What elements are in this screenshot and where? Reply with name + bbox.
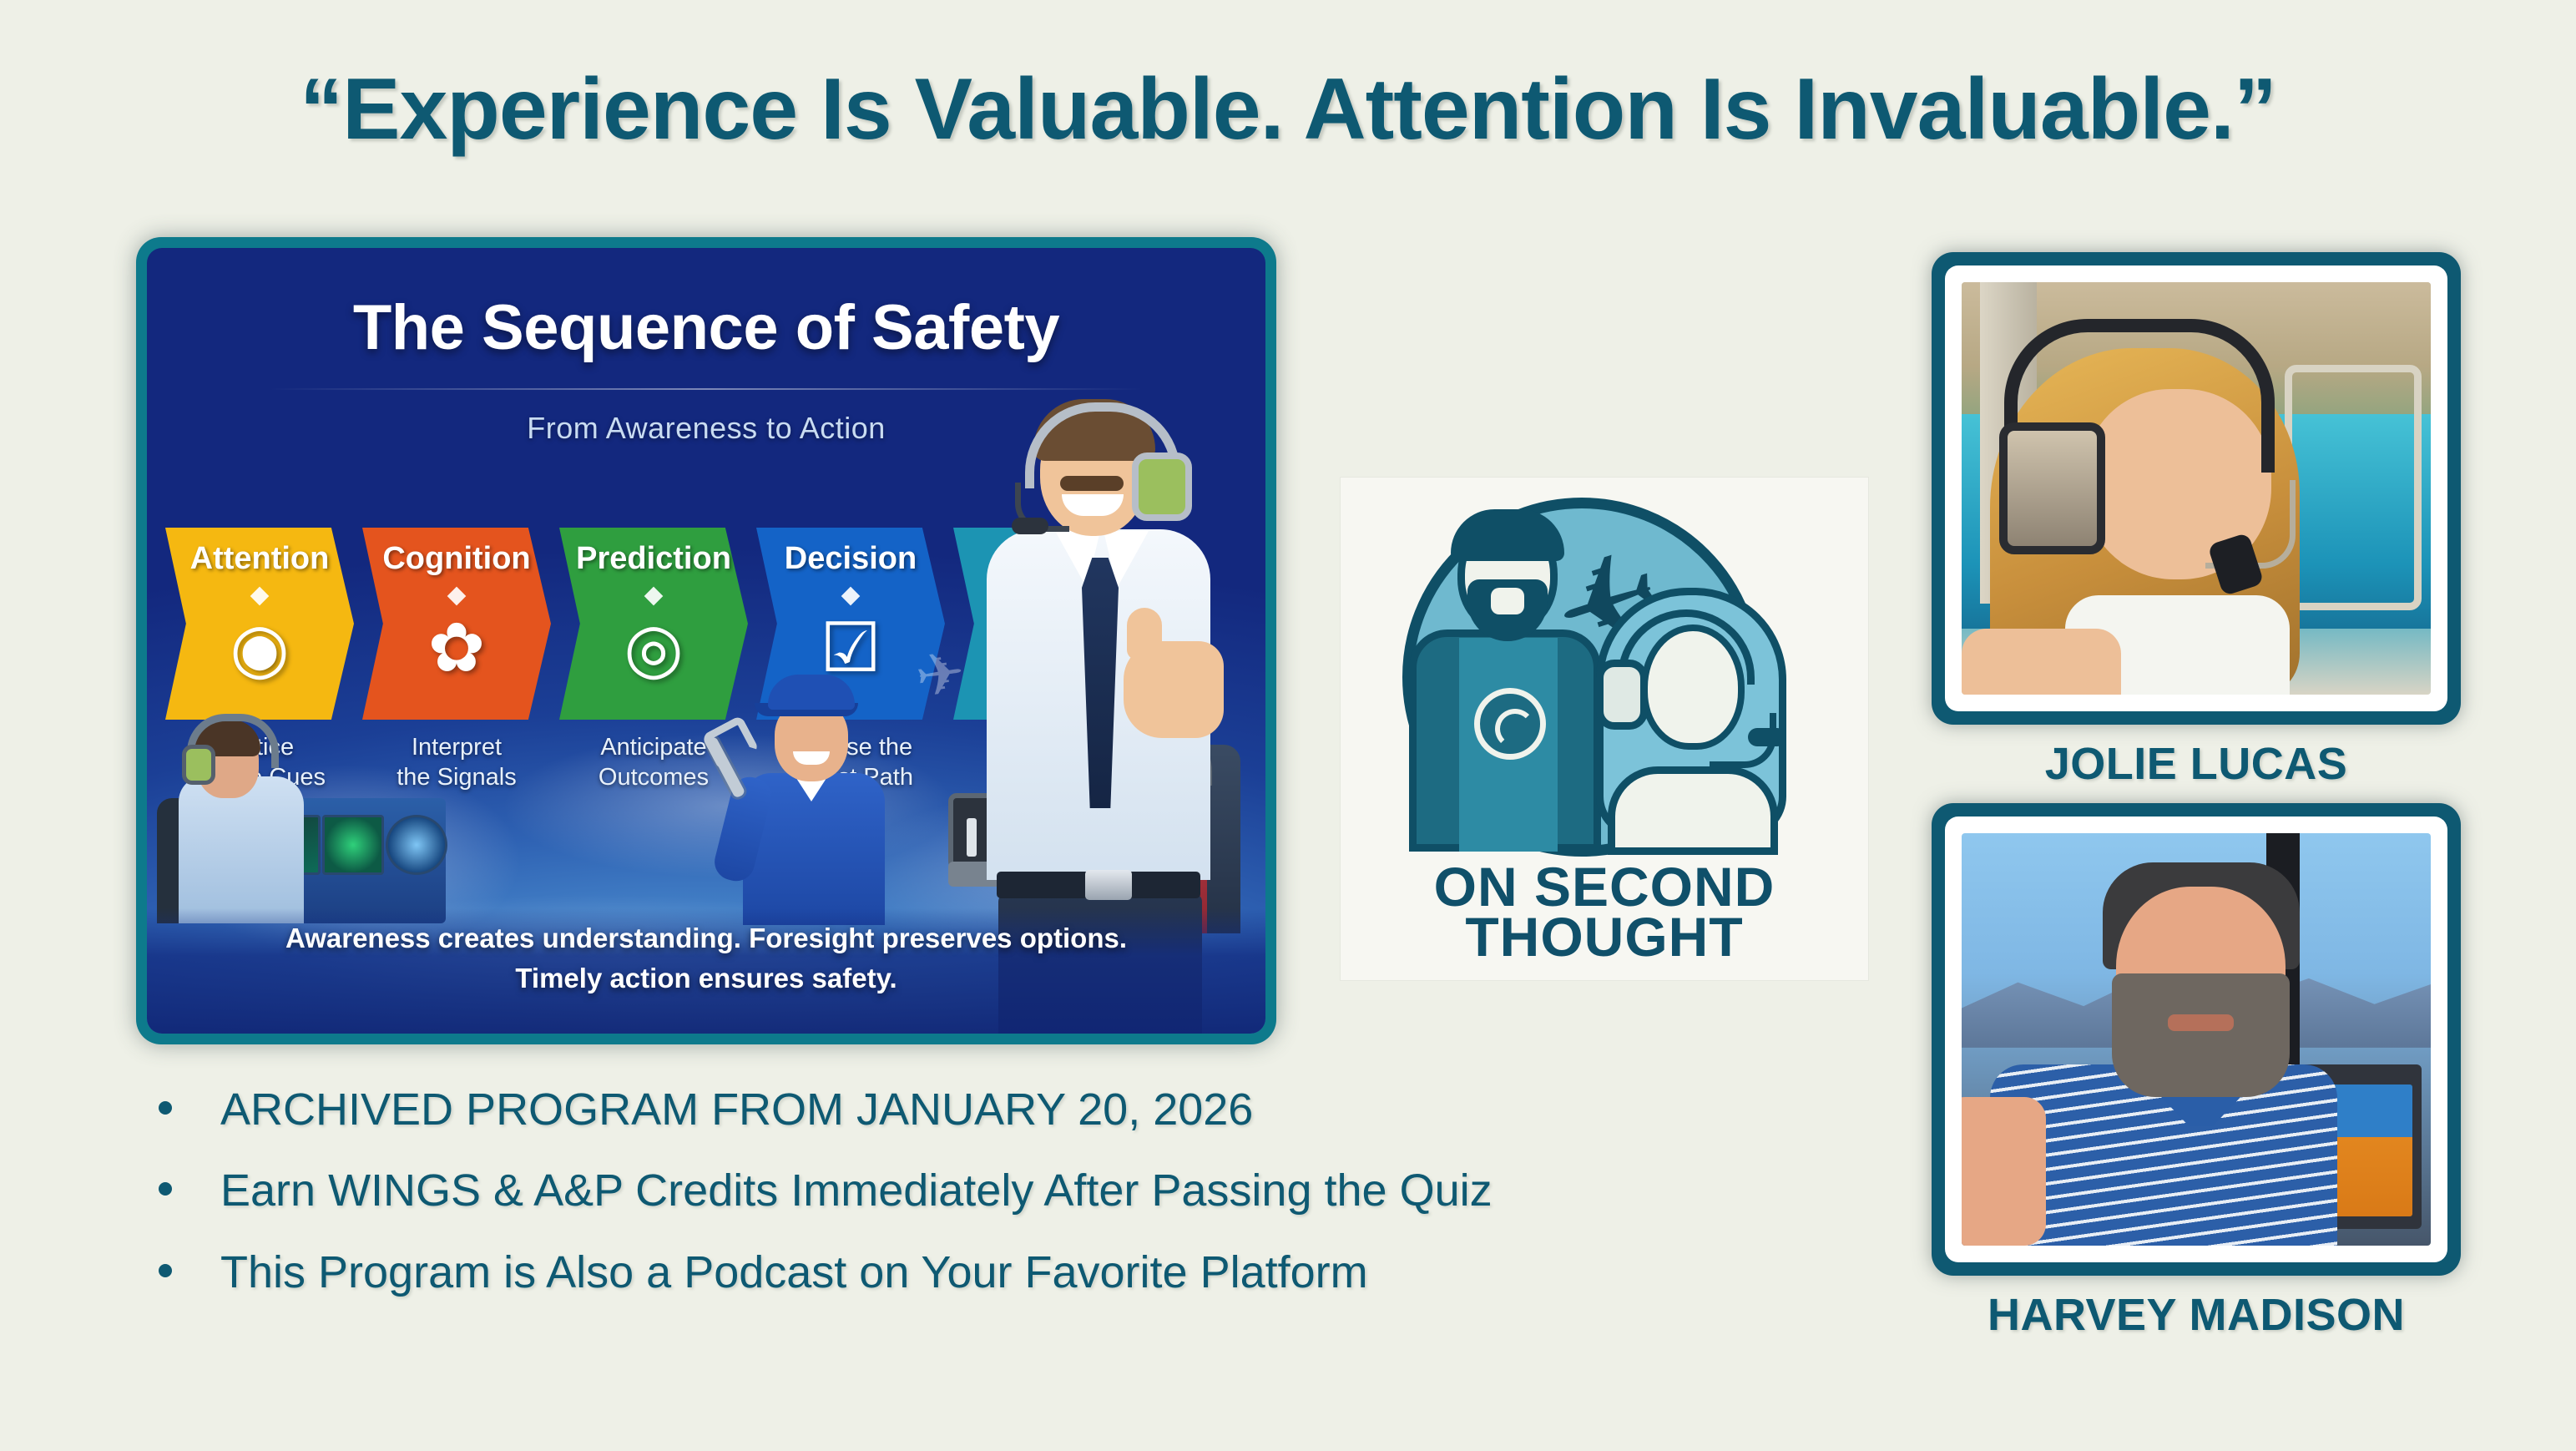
belt-buckle: [1085, 870, 1132, 900]
radar-screen-2: [322, 815, 384, 875]
thumbs-up-icon: [1127, 608, 1162, 660]
bullet-text: Earn WINGS & A&P Credits Immediately Aft…: [220, 1166, 1493, 1216]
diamond-icon: [644, 587, 664, 606]
podcast-logo: ✈ ON SECOND THOUGHT: [1341, 478, 1868, 980]
step-label: Decision: [756, 541, 945, 577]
bullet-dot-icon: [159, 1101, 172, 1115]
sequence-of-safety-graphic: The Sequence of Safety From Awareness to…: [136, 237, 1276, 1044]
bullet-list: ARCHIVED PROGRAM FROM JANUARY 20, 2026 E…: [159, 1085, 1661, 1329]
headset-earcup: [1132, 452, 1192, 521]
podcast-artwork: ✈: [1359, 493, 1850, 855]
safety-step-prediction: Prediction ◎: [559, 528, 748, 720]
radar-screen-3: [386, 815, 447, 875]
page-title: “Experience Is Valuable. Attention Is In…: [0, 60, 2576, 159]
photo-image: [1962, 833, 2431, 1246]
diamond-icon: [447, 587, 467, 606]
step-label: Prediction: [559, 541, 748, 577]
bullet-text: ARCHIVED PROGRAM FROM JANUARY 20, 2026: [220, 1085, 1253, 1135]
host-photo-harvey-madison: [1932, 803, 2461, 1276]
headset-earcup: [1999, 422, 2105, 554]
torso-shape: [1608, 766, 1778, 855]
triskelion-icon: [1474, 688, 1546, 760]
podcast-host-male-illustration: [1409, 508, 1601, 852]
photo-mat: [1945, 817, 2447, 1262]
cap-shape: [768, 675, 855, 710]
photo-mat: [1945, 265, 2447, 711]
target-icon: ◎: [559, 614, 748, 683]
diamond-icon: [250, 587, 270, 606]
lips-shape: [2168, 1014, 2234, 1031]
host-name-jolie-lucas: JOLIE LUCAS: [1932, 738, 2461, 790]
podcast-title-line-2: THOUGHT: [1341, 905, 1868, 968]
microphone-icon: [1748, 728, 1786, 746]
illustration-air-traffic-controller: [179, 648, 446, 923]
list-item: Earn WINGS & A&P Credits Immediately Aft…: [159, 1166, 1661, 1216]
photo-image: [1962, 282, 2431, 695]
arm-shape: [1962, 1097, 2046, 1246]
headset-earcup: [182, 745, 215, 785]
list-item: ARCHIVED PROGRAM FROM JANUARY 20, 2026: [159, 1085, 1661, 1135]
torso-shape: [179, 776, 304, 923]
host-name-harvey-madison: HARVEY MADISON: [1932, 1289, 2461, 1341]
tagline-line-1: Awareness creates understanding. Foresig…: [147, 918, 1265, 958]
headset-earcup: [1596, 660, 1648, 730]
tagline-line-2: Timely action ensures safety.: [147, 958, 1265, 999]
beard-shape: [2112, 973, 2291, 1097]
safety-graphic-heading: The Sequence of Safety: [147, 291, 1265, 364]
diamond-icon: [841, 587, 861, 606]
podcast-host-female-illustration: [1584, 588, 1798, 855]
microphone-icon: [1012, 518, 1048, 534]
bullet-dot-icon: [159, 1182, 172, 1196]
hair-shape: [1451, 509, 1564, 561]
list-item: This Program is Also a Podcast on Your F…: [159, 1248, 1661, 1297]
chin-shape: [1491, 588, 1524, 614]
illustration-mechanic: [723, 675, 932, 925]
step-label: Attention: [165, 541, 354, 577]
bullet-text: This Program is Also a Podcast on Your F…: [220, 1248, 1368, 1297]
bullet-dot-icon: [159, 1264, 172, 1277]
step-label: Cognition: [362, 541, 551, 577]
safety-graphic-tagline: Awareness creates understanding. Foresig…: [147, 918, 1265, 999]
shoulder-shape: [1962, 629, 2121, 695]
host-photo-jolie-lucas: [1932, 252, 2461, 725]
safety-graphic-inner: The Sequence of Safety From Awareness to…: [147, 248, 1265, 1034]
cockpit-window-frame: [2285, 365, 2422, 611]
